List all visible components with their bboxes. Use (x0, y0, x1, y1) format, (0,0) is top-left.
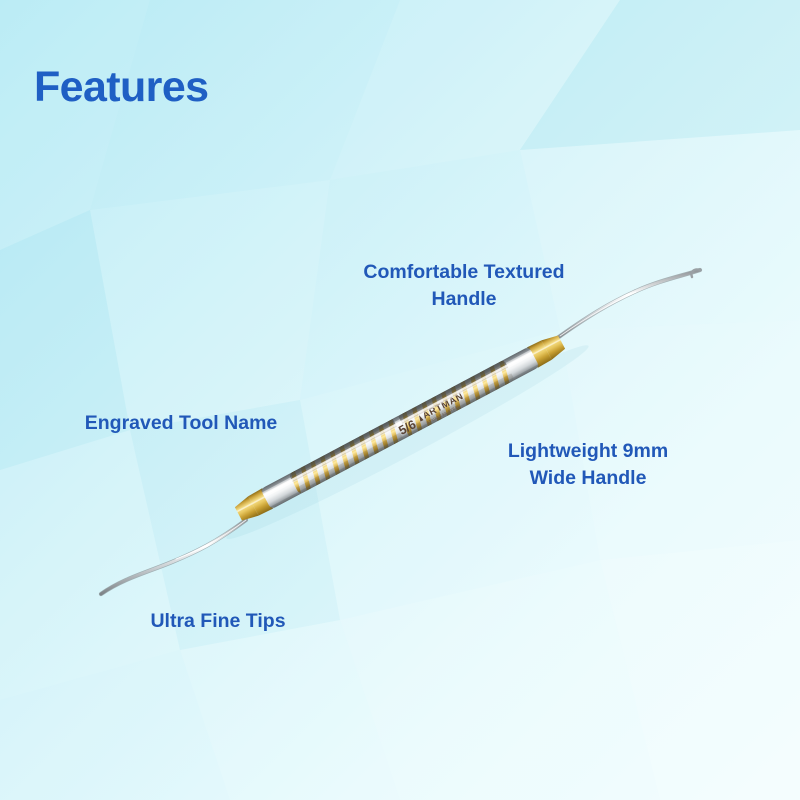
infographic-canvas: Features (0, 0, 800, 800)
feature-label-lightweight-wide-handle: Lightweight 9mm Wide Handle (478, 438, 698, 492)
feature-label-engraved-tool-name: Engraved Tool Name (50, 410, 312, 437)
product-image-dental-scaler: 5/6 ARTMAN STAINLESS STEEL (0, 0, 800, 800)
feature-label-comfortable-textured-handle: Comfortable Textured Handle (340, 259, 588, 313)
feature-label-ultra-fine-tips: Ultra Fine Tips (118, 608, 318, 635)
